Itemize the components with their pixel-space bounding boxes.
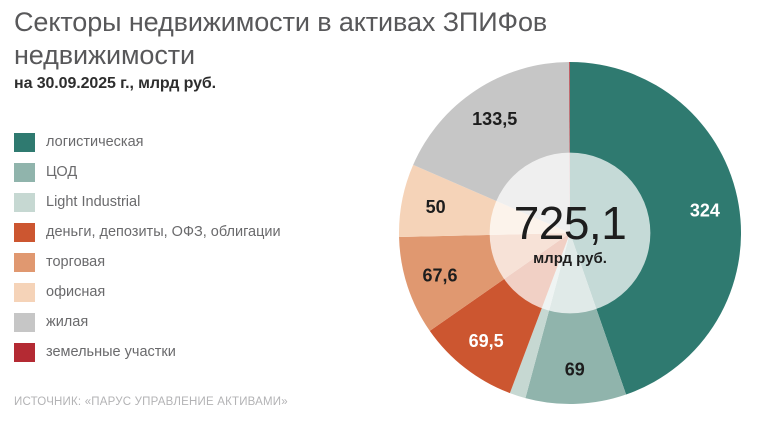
legend-item[interactable]: деньги, депозиты, ОФЗ, облигации (14, 217, 344, 247)
legend-item-label: жилая (46, 314, 88, 330)
legend-item[interactable]: торговая (14, 247, 344, 277)
legend-color-swatch (14, 343, 35, 362)
legend-color-swatch (14, 283, 35, 302)
legend-color-swatch (14, 253, 35, 272)
legend-item-label: торговая (46, 254, 105, 270)
legend-item-label: ЦОД (46, 164, 77, 180)
slice-value-label: 133,5 (472, 109, 517, 129)
legend-color-swatch (14, 193, 35, 212)
source-note: ИСТОЧНИК: «ПАРУС УПРАВЛЕНИЕ АКТИВАМИ» (14, 396, 288, 408)
legend-item[interactable]: ЦОД (14, 157, 344, 187)
legend-item[interactable]: земельные участки (14, 337, 344, 367)
legend-color-swatch (14, 133, 35, 152)
center-total-value: 725,1 (514, 197, 627, 249)
legend-color-swatch (14, 163, 35, 182)
slice-value-label: 11 (503, 402, 522, 405)
slice-value-label: 69,5 (469, 331, 504, 351)
legend-item-label: Light Industrial (46, 194, 140, 210)
legend-item[interactable]: офисная (14, 277, 344, 307)
legend-color-swatch (14, 223, 35, 242)
legend-item[interactable]: жилая (14, 307, 344, 337)
legend: логистическаяЦОДLight Industrialденьги, … (14, 127, 344, 367)
pie-chart-svg: 324691169,567,650133,50,5725,1млрд руб. (398, 61, 742, 405)
pie-chart: 324691169,567,650133,50,5725,1млрд руб. (398, 61, 742, 405)
slice-value-label: 69 (565, 360, 585, 380)
slice-value-label: 67,6 (422, 266, 457, 286)
slice-value-label: 324 (690, 200, 720, 220)
legend-color-swatch (14, 313, 35, 332)
legend-item-label: офисная (46, 284, 105, 300)
legend-item-label: логистическая (46, 134, 144, 150)
slice-value-label: 50 (426, 197, 446, 217)
legend-item-label: земельные участки (46, 344, 176, 360)
center-unit-label: млрд руб. (533, 250, 607, 267)
legend-item-label: деньги, депозиты, ОФЗ, облигации (46, 224, 281, 240)
legend-item[interactable]: логистическая (14, 127, 344, 157)
chart-page: Секторы недвижимости в активах ЗПИФов не… (0, 0, 760, 425)
legend-item[interactable]: Light Industrial (14, 187, 344, 217)
